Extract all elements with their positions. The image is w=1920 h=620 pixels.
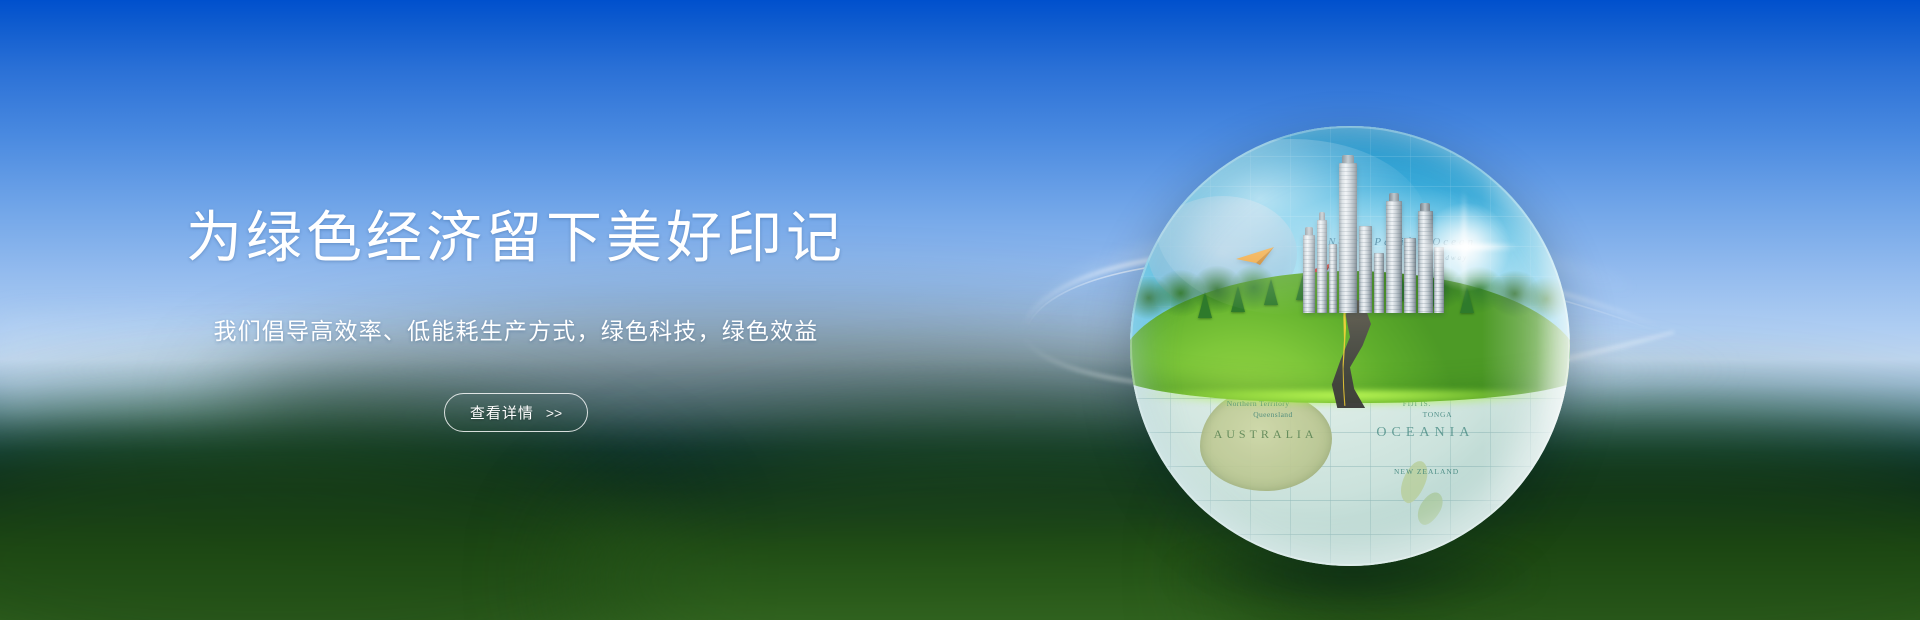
page-title: 为绿色经济留下美好印记 xyxy=(186,210,846,266)
globe-graphic: OCEANIA AUSTRALIA INDONESIA PAPUA NEW GU… xyxy=(1130,126,1570,566)
landmass-solomon-islands xyxy=(1350,359,1385,377)
banner-copy: 为绿色经济留下美好印记 我们倡导高效率、低能耗生产方式，绿色科技，绿色效益 查看… xyxy=(0,0,1010,620)
hero-banner: OCEANIA AUSTRALIA INDONESIA PAPUA NEW GU… xyxy=(0,0,1920,620)
landmass-papua-new-guinea xyxy=(1280,355,1350,386)
view-details-label: 查看详情 xyxy=(470,402,534,423)
banner-subtitle: 我们倡导高效率、低能耗生产方式，绿色科技，绿色效益 xyxy=(214,320,819,343)
landmass-philippines xyxy=(1227,276,1267,320)
chevron-right-icon: >> xyxy=(546,405,562,421)
view-details-button[interactable]: 查看详情 >> xyxy=(444,393,588,432)
landmass-asia xyxy=(1148,196,1298,310)
